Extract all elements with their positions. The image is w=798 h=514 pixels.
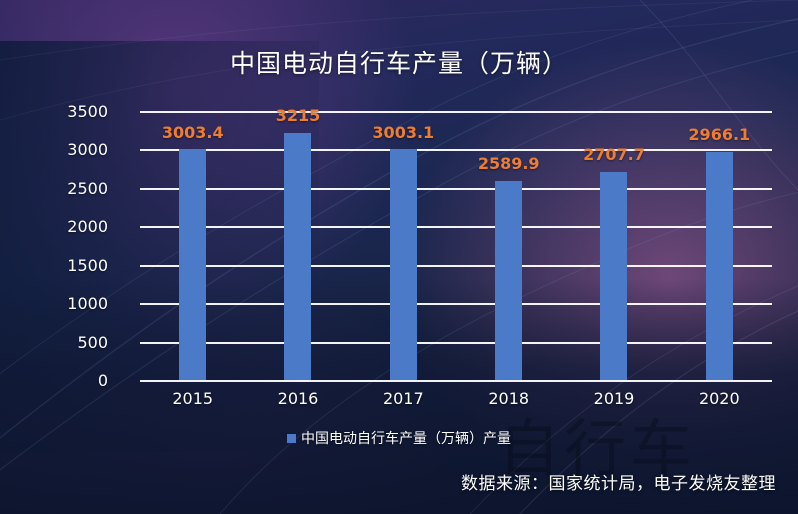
legend-item-label: 中国电动自行车产量（万辆）产量 [301, 428, 511, 448]
gridline-3000 [140, 149, 772, 151]
gridline-500 [140, 342, 772, 344]
bar-2019[interactable] [600, 172, 627, 380]
legend-swatch-icon [287, 434, 296, 443]
y-tick-label: 2500 [0, 179, 108, 198]
plot-area: 3500 3000 2500 2000 1500 1000 500 0 3003… [140, 111, 772, 380]
x-label-2019: 2019 [559, 389, 669, 408]
x-label-2017: 2017 [348, 389, 458, 408]
value-label-2018: 2589.9 [454, 154, 564, 173]
bar-2018[interactable] [495, 181, 522, 380]
y-tick-label: 500 [0, 333, 108, 352]
bar-chart: 中国电动自行车产量（万辆） 3500 3000 2500 2000 1500 1… [0, 0, 798, 514]
chart-screenshot: 自行车 中国电动自行车产量（万辆） 3500 3000 2500 2000 15… [0, 0, 798, 514]
gridline-3500 [140, 111, 772, 113]
value-label-2020: 2966.1 [664, 125, 774, 144]
gridline-1000 [140, 303, 772, 305]
value-label-2015: 3003.4 [138, 123, 248, 142]
y-tick-label: 1000 [0, 294, 108, 313]
bar-2020[interactable] [706, 152, 733, 380]
bar-2015[interactable] [179, 149, 206, 380]
gridline-2500 [140, 188, 772, 190]
chart-title: 中国电动自行车产量（万辆） [0, 44, 798, 80]
axis-baseline-0 [140, 380, 772, 382]
x-label-2020: 2020 [664, 389, 774, 408]
x-label-2016: 2016 [243, 389, 353, 408]
y-tick-label: 2000 [0, 217, 108, 236]
y-tick-label: 0 [0, 371, 108, 390]
value-label-2017: 3003.1 [348, 123, 458, 142]
bar-2017[interactable] [390, 149, 417, 380]
y-tick-label: 3500 [0, 102, 108, 121]
value-label-2016: 3215 [243, 106, 353, 125]
x-label-2015: 2015 [138, 389, 248, 408]
y-tick-label: 1500 [0, 256, 108, 275]
gridline-1500 [140, 265, 772, 267]
x-label-2018: 2018 [454, 389, 564, 408]
bar-2016[interactable] [284, 133, 311, 380]
y-tick-label: 3000 [0, 140, 108, 159]
chart-legend[interactable]: 中国电动自行车产量（万辆）产量 [0, 428, 798, 448]
value-label-2019: 2707.7 [559, 145, 669, 164]
gridline-2000 [140, 226, 772, 228]
source-note: 数据来源：国家统计局，电子发烧友整理 [461, 469, 776, 494]
